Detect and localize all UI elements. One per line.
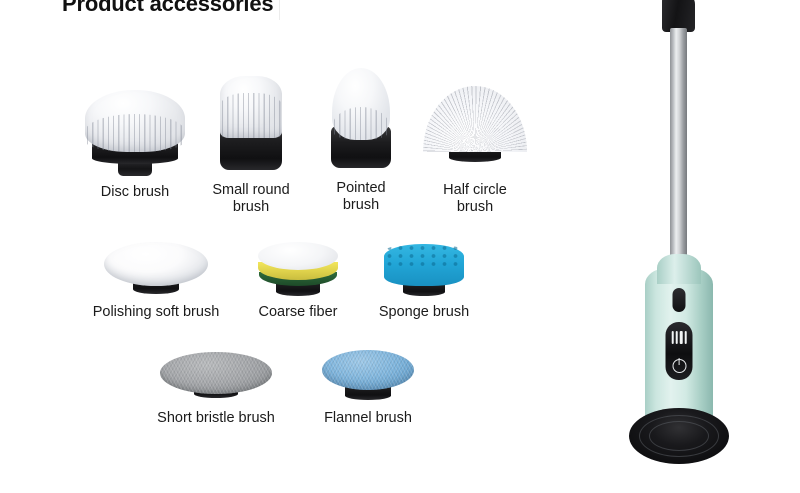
sponge-brush-art xyxy=(369,234,479,298)
disc-brush-art xyxy=(72,78,198,176)
battery-bar xyxy=(680,331,682,344)
disc-brush-bristle-texture xyxy=(85,114,185,152)
device-release-button[interactable] xyxy=(673,288,686,312)
spin-scrubber-device xyxy=(612,0,762,493)
disc-brush-bristles xyxy=(85,90,185,152)
small-round-brush-bristle-texture xyxy=(220,93,282,138)
accessory-label: Sponge brush xyxy=(369,304,479,321)
accessory-flannel-brush: Flannel brush xyxy=(312,344,424,427)
accessory-coarse-fiber: Coarse fiber xyxy=(245,238,351,321)
accessory-label: Flannel brush xyxy=(312,410,424,427)
half-circle-brush-bristle-texture xyxy=(423,86,527,152)
accessory-polishing-soft-brush: Polishing soft brush xyxy=(78,236,234,321)
sponge-brush-pad xyxy=(384,244,464,286)
accessory-disc-brush: Disc brush xyxy=(72,78,198,201)
battery-bar xyxy=(676,331,678,344)
pointed-brush-bristle-texture xyxy=(332,107,390,140)
polishing-soft-brush-art xyxy=(78,236,234,298)
coarse-fiber-art xyxy=(245,238,351,298)
flannel-brush-art xyxy=(312,344,424,404)
half-circle-brush-art xyxy=(419,74,531,176)
accessory-label: Coarse fiber xyxy=(245,304,351,321)
accessory-label: Polishing soft brush xyxy=(78,304,234,321)
polishing-soft-brush-pad xyxy=(104,242,208,286)
accessory-label: Disc brush xyxy=(72,184,198,201)
accessory-pointed-brush: Pointed brush xyxy=(312,64,410,214)
device-battery-indicator xyxy=(671,331,687,344)
battery-bar xyxy=(684,331,686,344)
accessory-sponge-brush: Sponge brush xyxy=(369,234,479,321)
device-base-collar xyxy=(629,408,729,464)
small-round-brush-bristles xyxy=(220,76,282,138)
accessory-label: Short bristle brush xyxy=(136,410,296,427)
flannel-brush-texture xyxy=(322,350,414,390)
product-accessories-image: Product accessories Disc brush Small rou… xyxy=(0,0,800,493)
short-bristle-brush-pad xyxy=(160,352,272,394)
short-bristle-brush-art xyxy=(136,348,296,404)
page-title: Product accessories xyxy=(62,0,273,17)
panel-divider xyxy=(279,0,280,20)
base-ring xyxy=(649,421,709,451)
accessory-label: Pointed brush xyxy=(312,180,410,214)
small-round-brush-art xyxy=(197,68,305,176)
accessory-label: Small round brush xyxy=(197,182,305,216)
accessory-small-round-brush: Small round brush xyxy=(197,68,305,216)
battery-bar xyxy=(671,331,673,344)
sponge-brush-texture xyxy=(384,244,464,268)
power-button-icon[interactable] xyxy=(672,359,686,373)
pointed-brush-bristles xyxy=(332,68,390,140)
accessory-label: Half circle brush xyxy=(419,182,531,216)
device-control-panel[interactable] xyxy=(666,322,693,380)
device-extension-pole xyxy=(670,28,687,268)
coarse-fiber-top xyxy=(258,242,338,270)
flannel-brush-pad xyxy=(322,350,414,390)
accessory-half-circle-brush: Half circle brush xyxy=(419,74,531,216)
accessory-short-bristle-brush: Short bristle brush xyxy=(136,348,296,427)
half-circle-brush-bristles xyxy=(423,86,527,152)
short-bristle-brush-texture xyxy=(160,352,272,394)
pointed-brush-art xyxy=(312,64,410,176)
